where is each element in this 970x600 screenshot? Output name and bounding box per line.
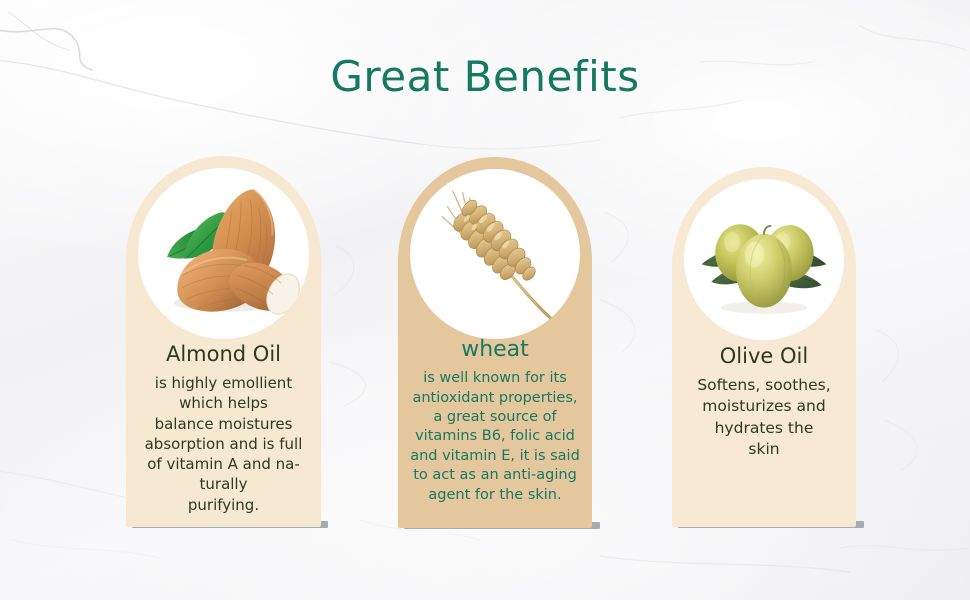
card-description-olive: Softens, soothes, moisturizes and hydrat… [678, 375, 850, 461]
card-body-almond: Almond Oil is highly emollient which hel… [132, 343, 315, 515]
card-body-olive: Olive Oil Softens, soothes, moisturizes … [678, 345, 850, 461]
benefit-card-almond[interactable]: Almond Oil is highly emollient which hel… [126, 156, 321, 527]
benefits-banner: Great Benefits [0, 0, 970, 600]
almond-nuts-icon [138, 168, 309, 339]
card-body-wheat: wheat is well known for its antioxidant … [404, 338, 586, 505]
benefit-card-wheat[interactable]: wheat is well known for its antioxidant … [398, 157, 592, 528]
card-description-almond: is highly emollient which helps balance … [132, 373, 315, 515]
card-description-wheat: is well known for its antioxidant proper… [404, 369, 586, 505]
page-title: Great Benefits [0, 52, 970, 101]
green-olives-icon [684, 179, 844, 340]
card-heading-olive: Olive Oil [678, 345, 850, 368]
wheat-stalk-icon [410, 169, 580, 339]
benefit-card-olive[interactable]: Olive Oil Softens, soothes, moisturizes … [672, 167, 856, 527]
card-heading-wheat: wheat [404, 338, 586, 362]
card-heading-almond: Almond Oil [132, 343, 315, 366]
